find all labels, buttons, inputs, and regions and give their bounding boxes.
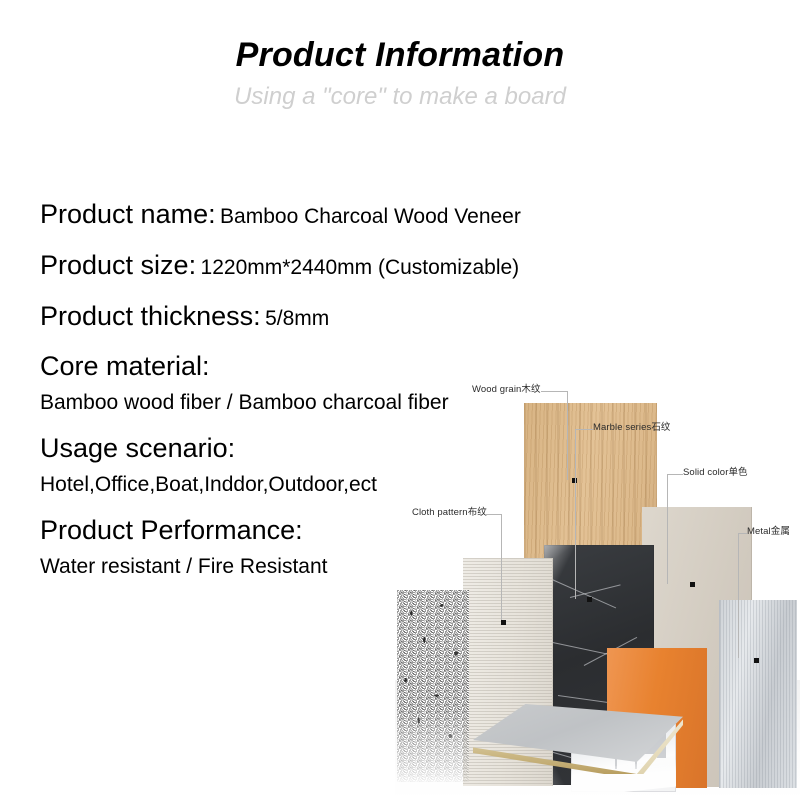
callout-leader-wood-grain bbox=[541, 391, 567, 392]
spec-row-product-thickness: Product thickness: 5/8mm bbox=[40, 300, 600, 334]
spec-label: Product name: bbox=[40, 199, 216, 229]
spec-row-product-name: Product name: Bamboo Charcoal Wood Venee… bbox=[40, 198, 600, 232]
spec-label: Product size: bbox=[40, 250, 196, 280]
page-header: Product Information Using a "core" to ma… bbox=[0, 0, 800, 110]
callout-leader-marble-series bbox=[575, 429, 576, 599]
callout-label-cloth-pattern: Cloth pattern布纹 bbox=[412, 508, 487, 518]
callout-leader-cloth-pattern bbox=[485, 514, 501, 515]
callout-label-wood-grain: Wood grain木纹 bbox=[472, 385, 541, 395]
spec-label: Usage scenario: bbox=[40, 433, 235, 463]
callout-leader-metal bbox=[738, 533, 747, 534]
callout-leader-solid-color bbox=[667, 474, 683, 475]
spec-value: 5/8mm bbox=[265, 307, 329, 330]
spec-label: Product thickness: bbox=[40, 301, 261, 331]
panel-marker-dot bbox=[587, 597, 592, 602]
callout-label-marble-series: Marble series石纹 bbox=[593, 423, 671, 433]
spec-value: 1220mm*2440mm (Customizable) bbox=[201, 256, 520, 279]
spec-label: Product Performance: bbox=[40, 515, 303, 545]
callout-label-solid-color: Solid color单色 bbox=[683, 468, 748, 478]
spec-value: Bamboo Charcoal Wood Veneer bbox=[220, 205, 521, 228]
page-title: Product Information bbox=[0, 36, 800, 74]
page-subtitle: Using a "core" to make a board bbox=[0, 84, 800, 110]
callout-leader-metal bbox=[738, 533, 739, 658]
spec-label: Core material: bbox=[40, 351, 210, 381]
product-samples-photo: Wood grain木纹 Marble series石纹 Solid color… bbox=[395, 350, 800, 800]
callout-leader-wood-grain bbox=[567, 391, 568, 480]
sample-panel-textured bbox=[397, 590, 469, 782]
callout-leader-cloth-pattern bbox=[501, 514, 502, 620]
callout-leader-marble-series bbox=[575, 429, 593, 430]
sample-board-core-edge bbox=[473, 704, 683, 774]
sample-panel-metal bbox=[719, 600, 797, 788]
spec-row-product-size: Product size: 1220mm*2440mm (Customizabl… bbox=[40, 249, 600, 283]
panel-marker-dot bbox=[690, 582, 695, 587]
callout-leader-solid-color bbox=[667, 474, 668, 584]
panel-marker-dot bbox=[754, 658, 759, 663]
panel-marker-dot bbox=[501, 620, 506, 625]
callout-label-metal: Metal金属 bbox=[747, 527, 790, 537]
